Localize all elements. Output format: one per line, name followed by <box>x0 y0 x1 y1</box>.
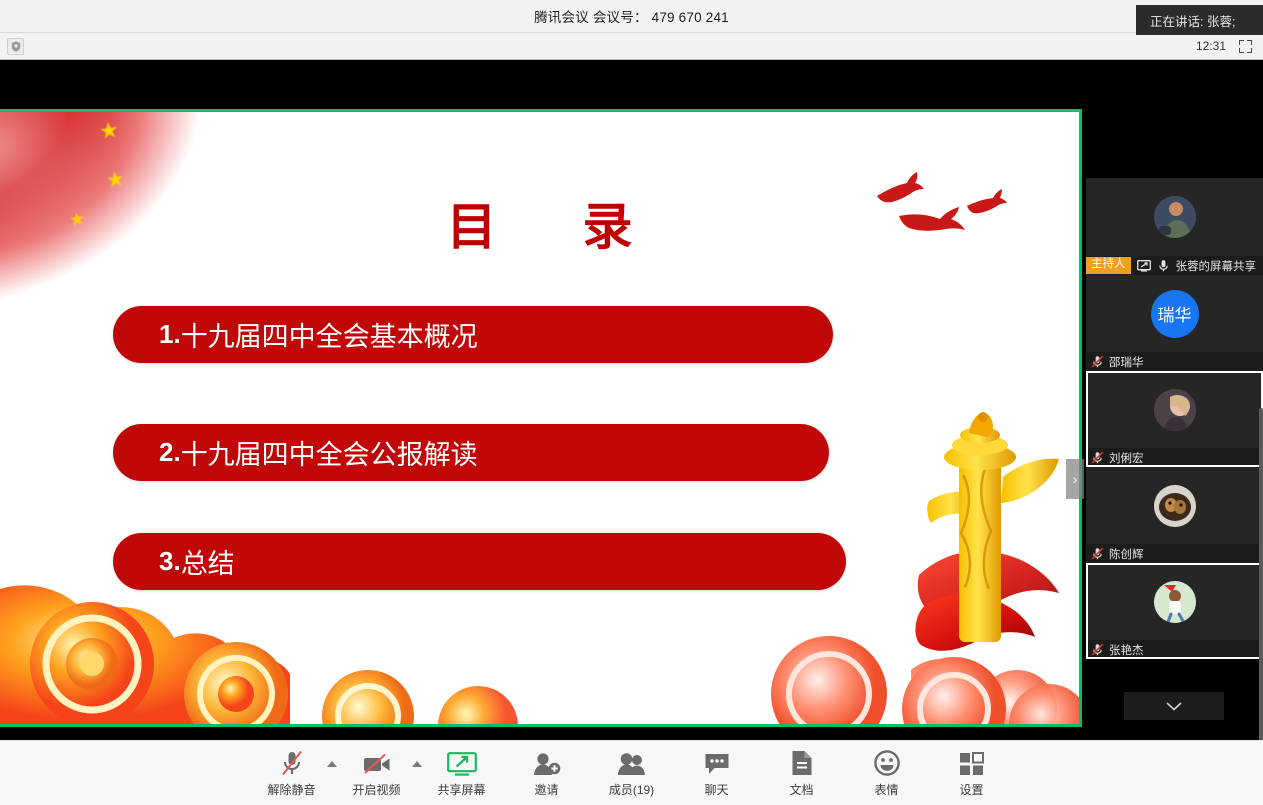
share-screen-button[interactable]: 共享屏幕 <box>433 749 491 798</box>
flag-star-icon: ★ <box>98 119 121 144</box>
participant-name: 张蓉的屏幕共享 <box>1176 258 1257 274</box>
chat-button[interactable]: 聊天 <box>688 749 746 798</box>
participant-video <box>1086 563 1263 640</box>
invite-label: 邀请 <box>534 781 558 798</box>
start-video-label: 开启视频 <box>352 781 400 798</box>
slide-title-char-2: 录 <box>583 197 719 256</box>
start-video-button[interactable]: 开启视频 <box>348 749 406 798</box>
camera-options-caret-icon[interactable] <box>412 761 422 767</box>
document-label: 文档 <box>789 781 813 798</box>
host-badge: 主持人 <box>1086 257 1131 274</box>
participant-tile-host[interactable]: 主持人 张蓉的屏幕共享 <box>1086 178 1263 275</box>
meeting-stage: ★ ★ ★ ★ ★ <box>0 60 1263 740</box>
grid-settings-icon <box>959 749 985 776</box>
slide-title-char-1: 目 <box>447 197 583 256</box>
avatar <box>1154 581 1196 623</box>
settings-button[interactable]: 设置 <box>943 749 1001 798</box>
camera-off-icon <box>363 749 391 776</box>
microphone-muted-icon <box>1091 451 1104 464</box>
window-titlebar: 腾讯会议 会议号： 479 670 241 <box>0 0 1263 33</box>
participant-tile-chenchuanghui[interactable]: 陈创辉 <box>1086 467 1263 563</box>
participant-name: 陈创辉 <box>1109 546 1144 562</box>
screen-share-icon <box>1137 260 1151 272</box>
participants-label: 成员(19) <box>609 781 654 798</box>
microphone-muted-icon <box>1091 547 1104 560</box>
participant-tile-zhangyanjie[interactable]: 张艳杰 <box>1086 563 1263 659</box>
participant-video <box>1086 467 1263 544</box>
participant-strip[interactable]: 主持人 张蓉的屏幕共享 瑞华 <box>1086 178 1263 718</box>
speaking-indicator: 正在讲话: 张蓉; <box>1136 5 1263 35</box>
slide-title: 目录 <box>0 187 1079 259</box>
auspicious-cloud-decoration-right <box>749 574 1079 724</box>
participants-button[interactable]: 成员(19) <box>603 749 661 798</box>
emoji-icon <box>874 749 900 776</box>
participant-name: 张艳杰 <box>1109 642 1144 658</box>
agenda-item-3-number: 3. <box>159 546 181 577</box>
participant-info-bar: 主持人 张蓉的屏幕共享 <box>1086 256 1263 275</box>
emoji-label: 表情 <box>874 781 898 798</box>
share-screen-icon <box>447 749 477 776</box>
participant-name: 邵瑞华 <box>1109 354 1144 370</box>
avatar <box>1154 485 1196 527</box>
clock-label: 12:31 <box>1196 39 1226 53</box>
controlbar-buttons: 解除静音 开启视频 <box>0 741 1263 805</box>
participant-video <box>1086 178 1263 256</box>
agenda-item-2: 2. 十九届四中全会公报解读 <box>113 424 829 481</box>
meeting-title: 腾讯会议 会议号： 479 670 241 <box>534 6 729 26</box>
agenda-item-2-number: 2. <box>159 437 181 468</box>
agenda-item-1-number: 1. <box>159 319 181 350</box>
shared-screen-frame: ★ ★ ★ ★ ★ <box>0 109 1082 727</box>
microphone-muted-icon <box>1091 355 1104 368</box>
emoji-button[interactable]: 表情 <box>858 749 916 798</box>
participant-name: 刘俐宏 <box>1109 450 1144 466</box>
agenda-item-3-text: 总结 <box>181 542 235 581</box>
agenda-item-2-text: 十九届四中全会公报解读 <box>181 433 478 472</box>
participant-video <box>1086 371 1263 448</box>
mic-off-icon <box>280 749 304 776</box>
subbar-right-group: 12:31 <box>1196 39 1263 53</box>
invite-button[interactable]: 邀请 <box>518 749 576 798</box>
chat-bubble-icon <box>704 749 730 776</box>
participant-video: 瑞华 <box>1086 275 1263 352</box>
chat-label: 聊天 <box>704 781 728 798</box>
shield-icon <box>11 41 21 52</box>
avatar <box>1154 389 1196 431</box>
unmute-button[interactable]: 解除静音 <box>263 749 321 798</box>
participant-info-bar: 张艳杰 <box>1086 640 1263 659</box>
meeting-controlbar: 解除静音 开启视频 <box>0 740 1263 805</box>
participant-tile-liulihong[interactable]: 刘俐宏 <box>1086 371 1263 467</box>
scroll-down-button[interactable] <box>1124 692 1224 720</box>
mic-options-caret-icon[interactable] <box>327 761 337 767</box>
participant-info-bar: 刘俐宏 <box>1086 448 1263 467</box>
participant-info-bar: 邵瑞华 <box>1086 352 1263 371</box>
invite-person-icon <box>533 749 561 776</box>
avatar <box>1154 196 1196 238</box>
agenda-item-1-text: 十九届四中全会基本概况 <box>181 315 478 354</box>
document-button[interactable]: 文档 <box>773 749 831 798</box>
fullscreen-icon[interactable] <box>1239 40 1252 53</box>
meeting-window: 腾讯会议 会议号： 479 670 241 12:31 正在讲话: 张蓉; ★ … <box>0 0 1263 805</box>
agenda-item-1: 1.十九届四中全会基本概况 <box>113 306 833 363</box>
settings-label: 设置 <box>959 781 983 798</box>
next-slide-button[interactable]: › <box>1066 459 1084 499</box>
security-button[interactable] <box>7 38 24 55</box>
avatar-initials: 瑞华 <box>1151 290 1199 338</box>
microphone-muted-icon <box>1091 643 1104 656</box>
participant-tile-shaoruihua[interactable]: 瑞华 邵瑞华 <box>1086 275 1263 371</box>
participants-icon <box>617 749 647 776</box>
secondary-toolbar: 12:31 <box>0 33 1263 60</box>
presentation-slide: ★ ★ ★ ★ ★ <box>0 112 1079 724</box>
chevron-down-icon <box>1166 702 1182 711</box>
share-screen-label: 共享屏幕 <box>437 781 485 798</box>
agenda-item-3: 3.总结 <box>113 533 846 590</box>
participant-info-bar: 陈创辉 <box>1086 544 1263 563</box>
microphone-icon <box>1157 259 1170 272</box>
unmute-label: 解除静音 <box>267 781 315 798</box>
document-icon <box>791 749 813 776</box>
